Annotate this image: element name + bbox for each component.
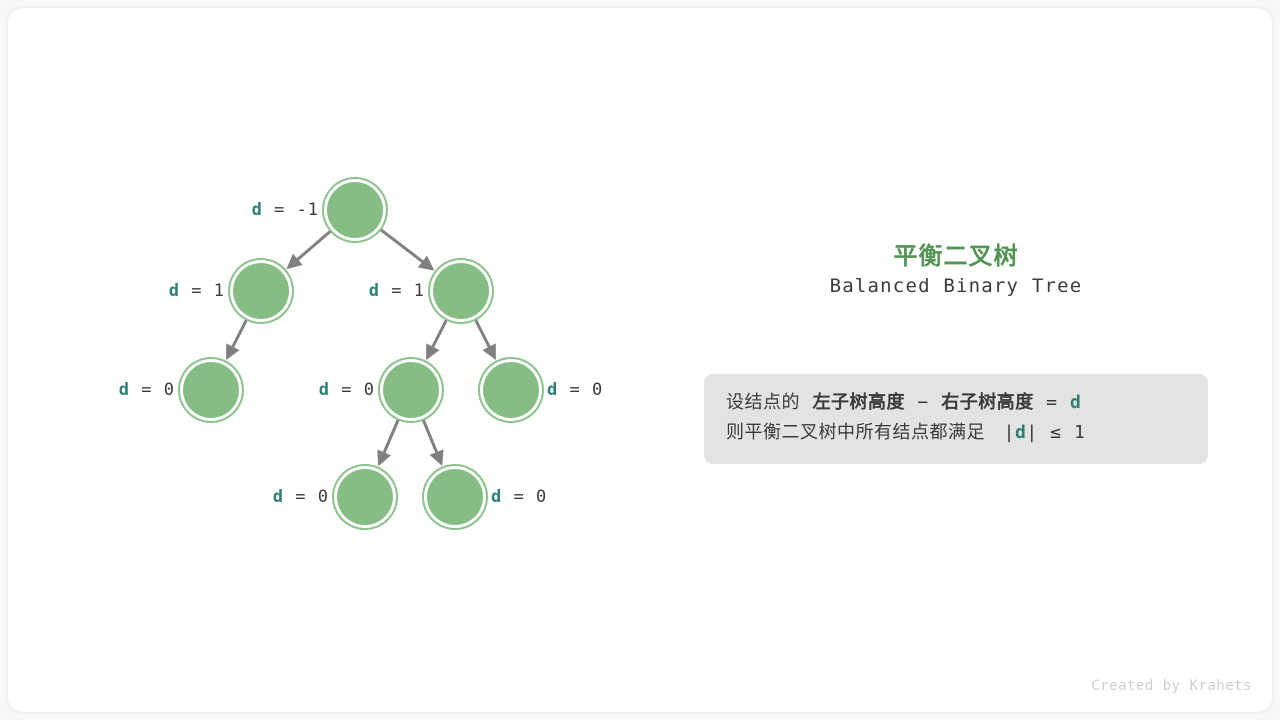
node-label-value: = 1 (380, 281, 425, 301)
tree-node-label: d = -1 (252, 200, 319, 220)
node-label-value: = 0 (502, 487, 547, 507)
node-label-variable: d (169, 281, 180, 301)
tree-node-label: d = 0 (319, 380, 375, 400)
tree-node-label: d = 0 (273, 487, 329, 507)
formula-box: 设结点的 左子树高度 − 右子树高度 = d 则平衡二叉树中所有结点都满足 |d… (704, 374, 1208, 464)
tree-edge (380, 229, 433, 269)
formula-line-1: 设结点的 左子树高度 − 右子树高度 = d (726, 388, 1186, 418)
node-label-variable: d (119, 380, 130, 400)
tree-edge (423, 419, 442, 464)
node-label-variable: d (273, 487, 284, 507)
page-title: 平衡二叉树 (704, 236, 1208, 271)
info-panel: 平衡二叉树 Balanced Binary Tree 设结点的 左子树高度 − … (704, 8, 1208, 712)
formula-line-2: 则平衡二叉树中所有结点都满足 |d| ≤ 1 (726, 418, 1186, 448)
abs-bar-left: | (1004, 422, 1015, 443)
tree-node-label: d = 1 (369, 281, 425, 301)
formula-line2-operator: ≤ (1050, 422, 1061, 443)
formula-line2-prefix: 则平衡二叉树中所有结点都满足 (726, 422, 985, 443)
formula-line1-variable: d (1070, 392, 1081, 413)
tree-edge (227, 319, 247, 358)
node-label-variable: d (252, 200, 263, 220)
formula-line1-bold-left: 左子树高度 (812, 392, 905, 413)
tree-node-label: d = 0 (119, 380, 175, 400)
tree-edge (427, 319, 447, 358)
formula-line1-bold-right: 右子树高度 (941, 392, 1034, 413)
page-card: d = -1d = 1d = 1d = 0d = 0d = 0d = 0d = … (8, 8, 1272, 712)
node-label-variable: d (491, 487, 502, 507)
node-label-value: = -1 (263, 200, 319, 220)
node-label-value: = 0 (558, 380, 603, 400)
formula-line2-variable: d (1015, 422, 1026, 443)
node-label-value: = 0 (330, 380, 375, 400)
node-label-value: = 0 (130, 380, 175, 400)
node-label-variable: d (547, 380, 558, 400)
tree-node-label: d = 0 (547, 380, 603, 400)
tree-node[interactable] (233, 263, 289, 319)
formula-line2-value: 1 (1074, 422, 1085, 443)
formula-line1-minus: − (917, 392, 928, 413)
tree-node[interactable] (327, 182, 383, 238)
node-label-value: = 0 (284, 487, 329, 507)
tree-edges (8, 8, 668, 712)
tree-node[interactable] (337, 469, 393, 525)
tree-node[interactable] (427, 469, 483, 525)
tree-node[interactable] (383, 362, 439, 418)
tree-node[interactable] (483, 362, 539, 418)
tree-edge (379, 418, 399, 463)
tree-node[interactable] (183, 362, 239, 418)
node-label-variable: d (369, 281, 380, 301)
tree-edge (288, 230, 331, 267)
abs-bar-right: | (1026, 422, 1037, 443)
credit-watermark: Created by Krahets (1091, 678, 1252, 694)
formula-line1-equals: = (1046, 392, 1057, 413)
tree-edge (475, 319, 495, 358)
node-label-variable: d (319, 380, 330, 400)
formula-line1-prefix: 设结点的 (726, 392, 800, 413)
tree-node-label: d = 0 (491, 487, 547, 507)
binary-tree-diagram: d = -1d = 1d = 1d = 0d = 0d = 0d = 0d = … (8, 8, 668, 712)
tree-node[interactable] (433, 263, 489, 319)
node-label-value: = 1 (180, 281, 225, 301)
tree-node-label: d = 1 (169, 281, 225, 301)
page-subtitle: Balanced Binary Tree (704, 275, 1208, 297)
